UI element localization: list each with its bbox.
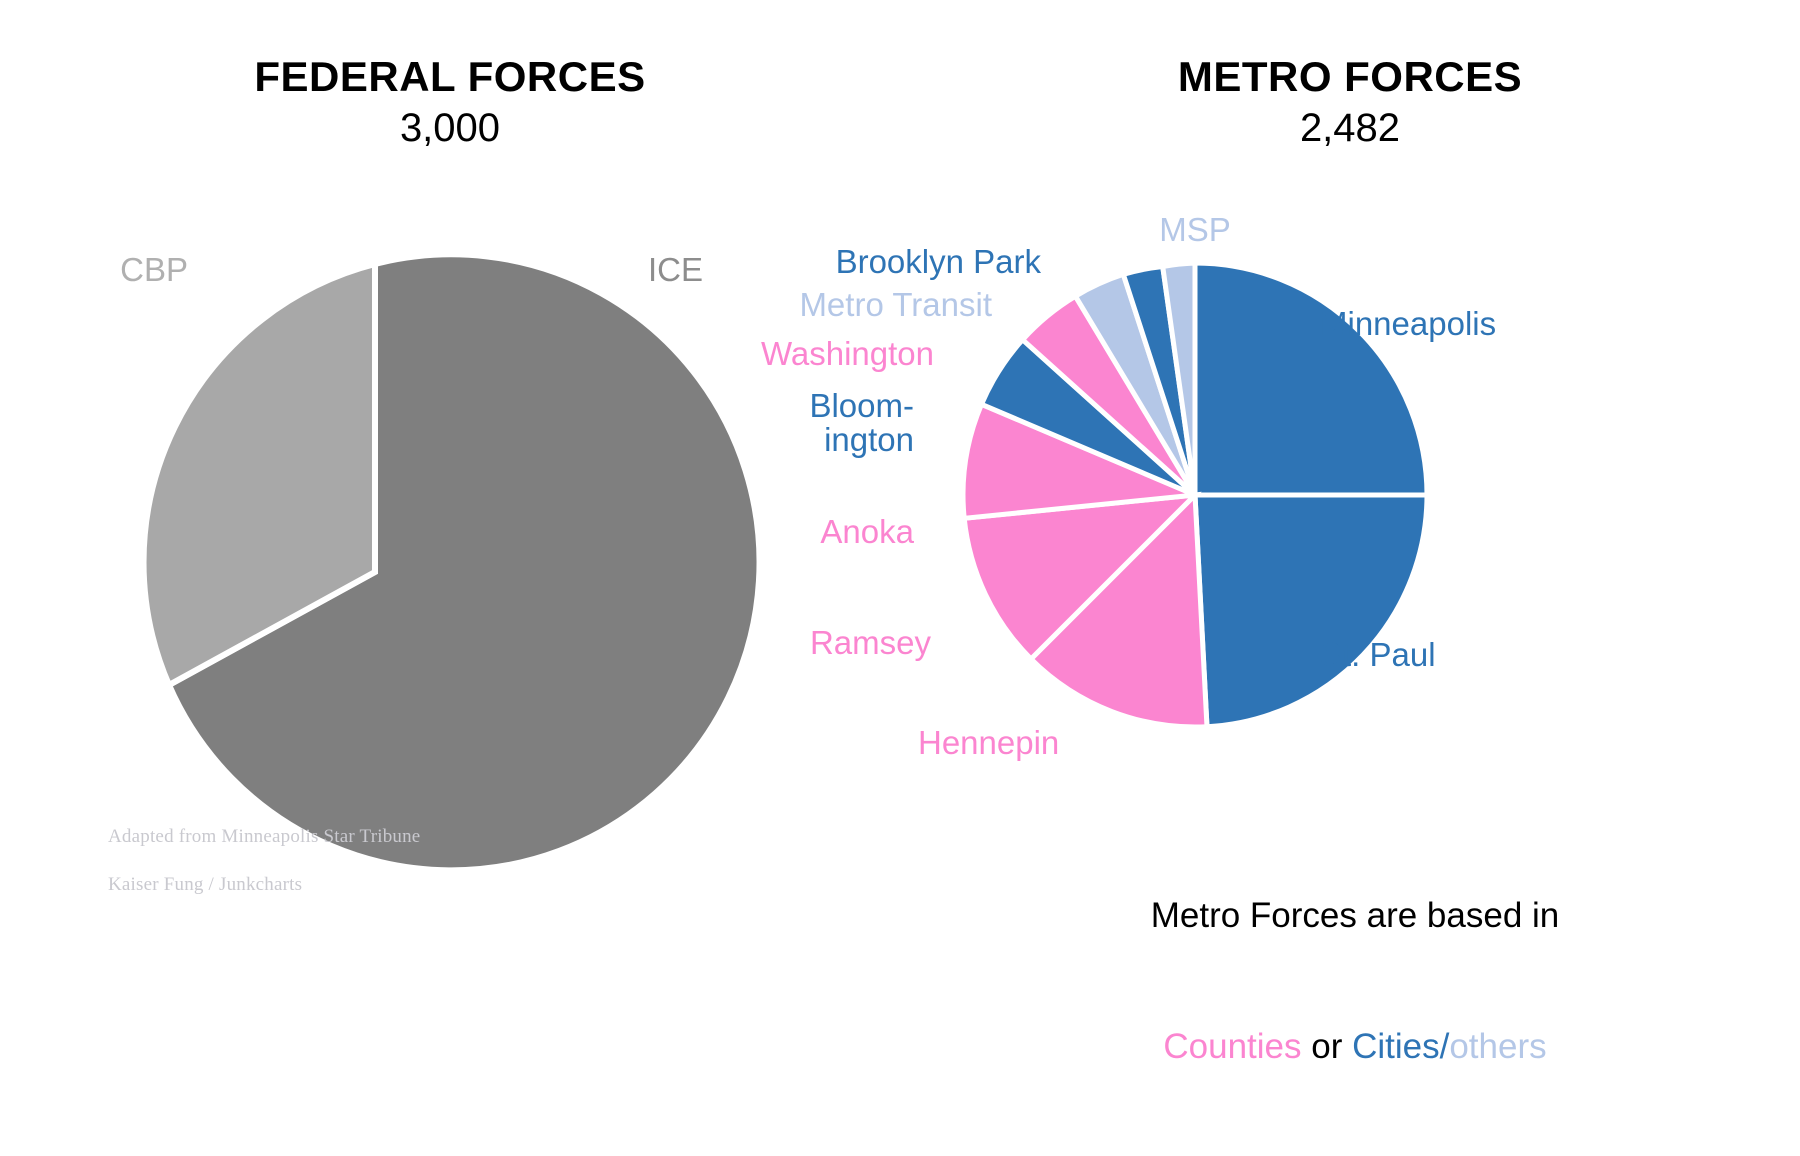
metro-label-st-paul: St. Paul [1320,638,1436,672]
metro-label-bloomington-line2: ington [824,421,914,458]
caption-others: others [1449,1027,1546,1066]
caption-slash: / [1440,1027,1450,1066]
federal-forces-panel: FEDERAL FORCES 3,000 CBP ICE Adapted fro… [0,0,900,1074]
federal-label-ice: ICE [648,253,703,287]
metro-forces-panel: METRO FORCES 2,482 MSP Brooklyn P [900,0,1800,1074]
caption-counties: Counties [1163,1027,1301,1066]
caption-cities: Cities [1352,1027,1440,1066]
metro-label-bloomington-line1: Bloom- [809,387,914,424]
federal-pie-svg [0,0,900,1074]
metro-label-bloomington: Bloom-ington [809,389,914,458]
metro-wedge-minneapolis[interactable] [1195,263,1427,495]
metro-label-washington: Washington [761,337,934,371]
metro-label-ramsey: Ramsey [810,626,931,660]
metro-label-hennepin: Hennepin [918,726,1059,760]
caption-or: or [1302,1027,1353,1066]
metro-caption-line2: Counties or Cities/others [960,1025,1750,1069]
metro-caption-line1: Metro Forces are based in [960,894,1750,938]
metro-caption: Metro Forces are based in Counties or Ci… [960,806,1750,1156]
metro-label-brooklyn-park: Brooklyn Park [836,245,1041,279]
metro-label-msp: MSP [1115,213,1275,247]
metro-label-anoka: Anoka [820,515,914,549]
credit-source: Adapted from Minneapolis Star Tribune [108,826,420,848]
credit-author: Kaiser Fung / Junkcharts [108,874,302,896]
metro-wedge-st-paul[interactable] [1195,495,1427,727]
metro-label-metro-transit: Metro Transit [799,288,992,322]
metro-label-minneapolis: Minneapolis [1320,307,1496,341]
federal-label-cbp: CBP [120,253,188,287]
